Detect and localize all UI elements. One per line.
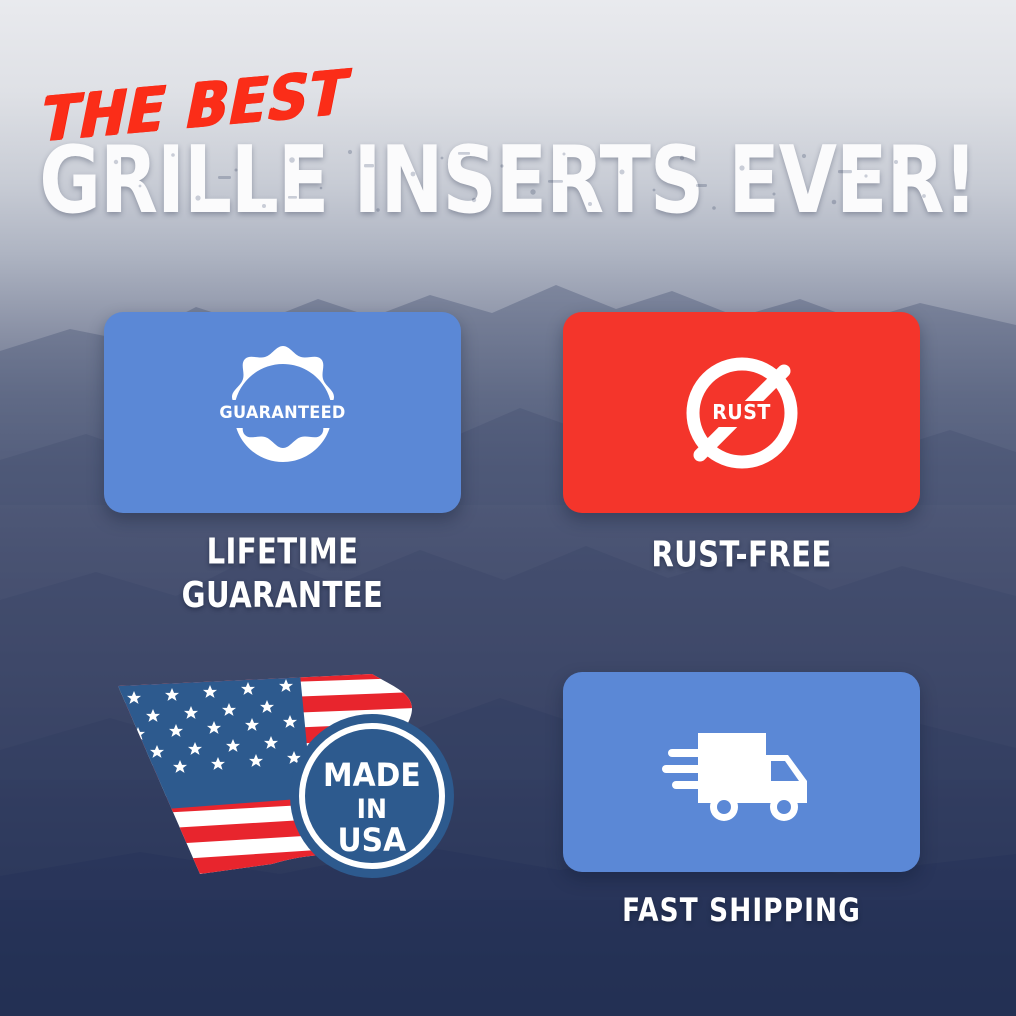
promo-banner: THE BEST GRILLE INSERTS EVER! <box>0 0 1016 1016</box>
feature-label-rust: RUST-FREE <box>574 534 910 577</box>
feature-label-line2: GUARANTEE <box>115 575 451 618</box>
feature-card-rust[interactable]: RUST <box>563 312 920 513</box>
feature-label-line1: RUST-FREE <box>574 534 910 577</box>
feature-label-line1: FAST SHIPPING <box>574 892 910 931</box>
feature-label-shipping: FAST SHIPPING <box>574 892 910 931</box>
no-rust-icon-text: RUST <box>572 400 911 424</box>
made-in-usa-flag-badge-icon: MADE IN USA <box>104 668 469 880</box>
seal-text-in: IN <box>357 794 387 825</box>
feature-lifetime-guarantee[interactable]: GUARANTEED LIFETIME GUARANTEE <box>104 312 461 513</box>
seal-text-usa: USA <box>338 822 407 859</box>
feature-label-line1: LIFETIME <box>115 532 451 575</box>
feature-made-in-usa[interactable]: MADE IN USA <box>104 668 469 880</box>
feature-label-guarantee: LIFETIME GUARANTEE <box>115 532 451 618</box>
feature-card-shipping[interactable] <box>563 672 920 872</box>
delivery-truck-icon <box>662 719 822 825</box>
feature-card-guarantee[interactable]: GUARANTEED <box>104 312 461 513</box>
feature-fast-shipping[interactable]: FAST SHIPPING <box>563 672 920 872</box>
seal-text-made: MADE <box>323 757 421 794</box>
guarantee-seal-text: GUARANTEED <box>113 403 452 423</box>
page-title: GRILLE INSERTS EVER! <box>5 134 1011 227</box>
feature-rust-free[interactable]: RUST RUST-FREE <box>563 312 920 513</box>
